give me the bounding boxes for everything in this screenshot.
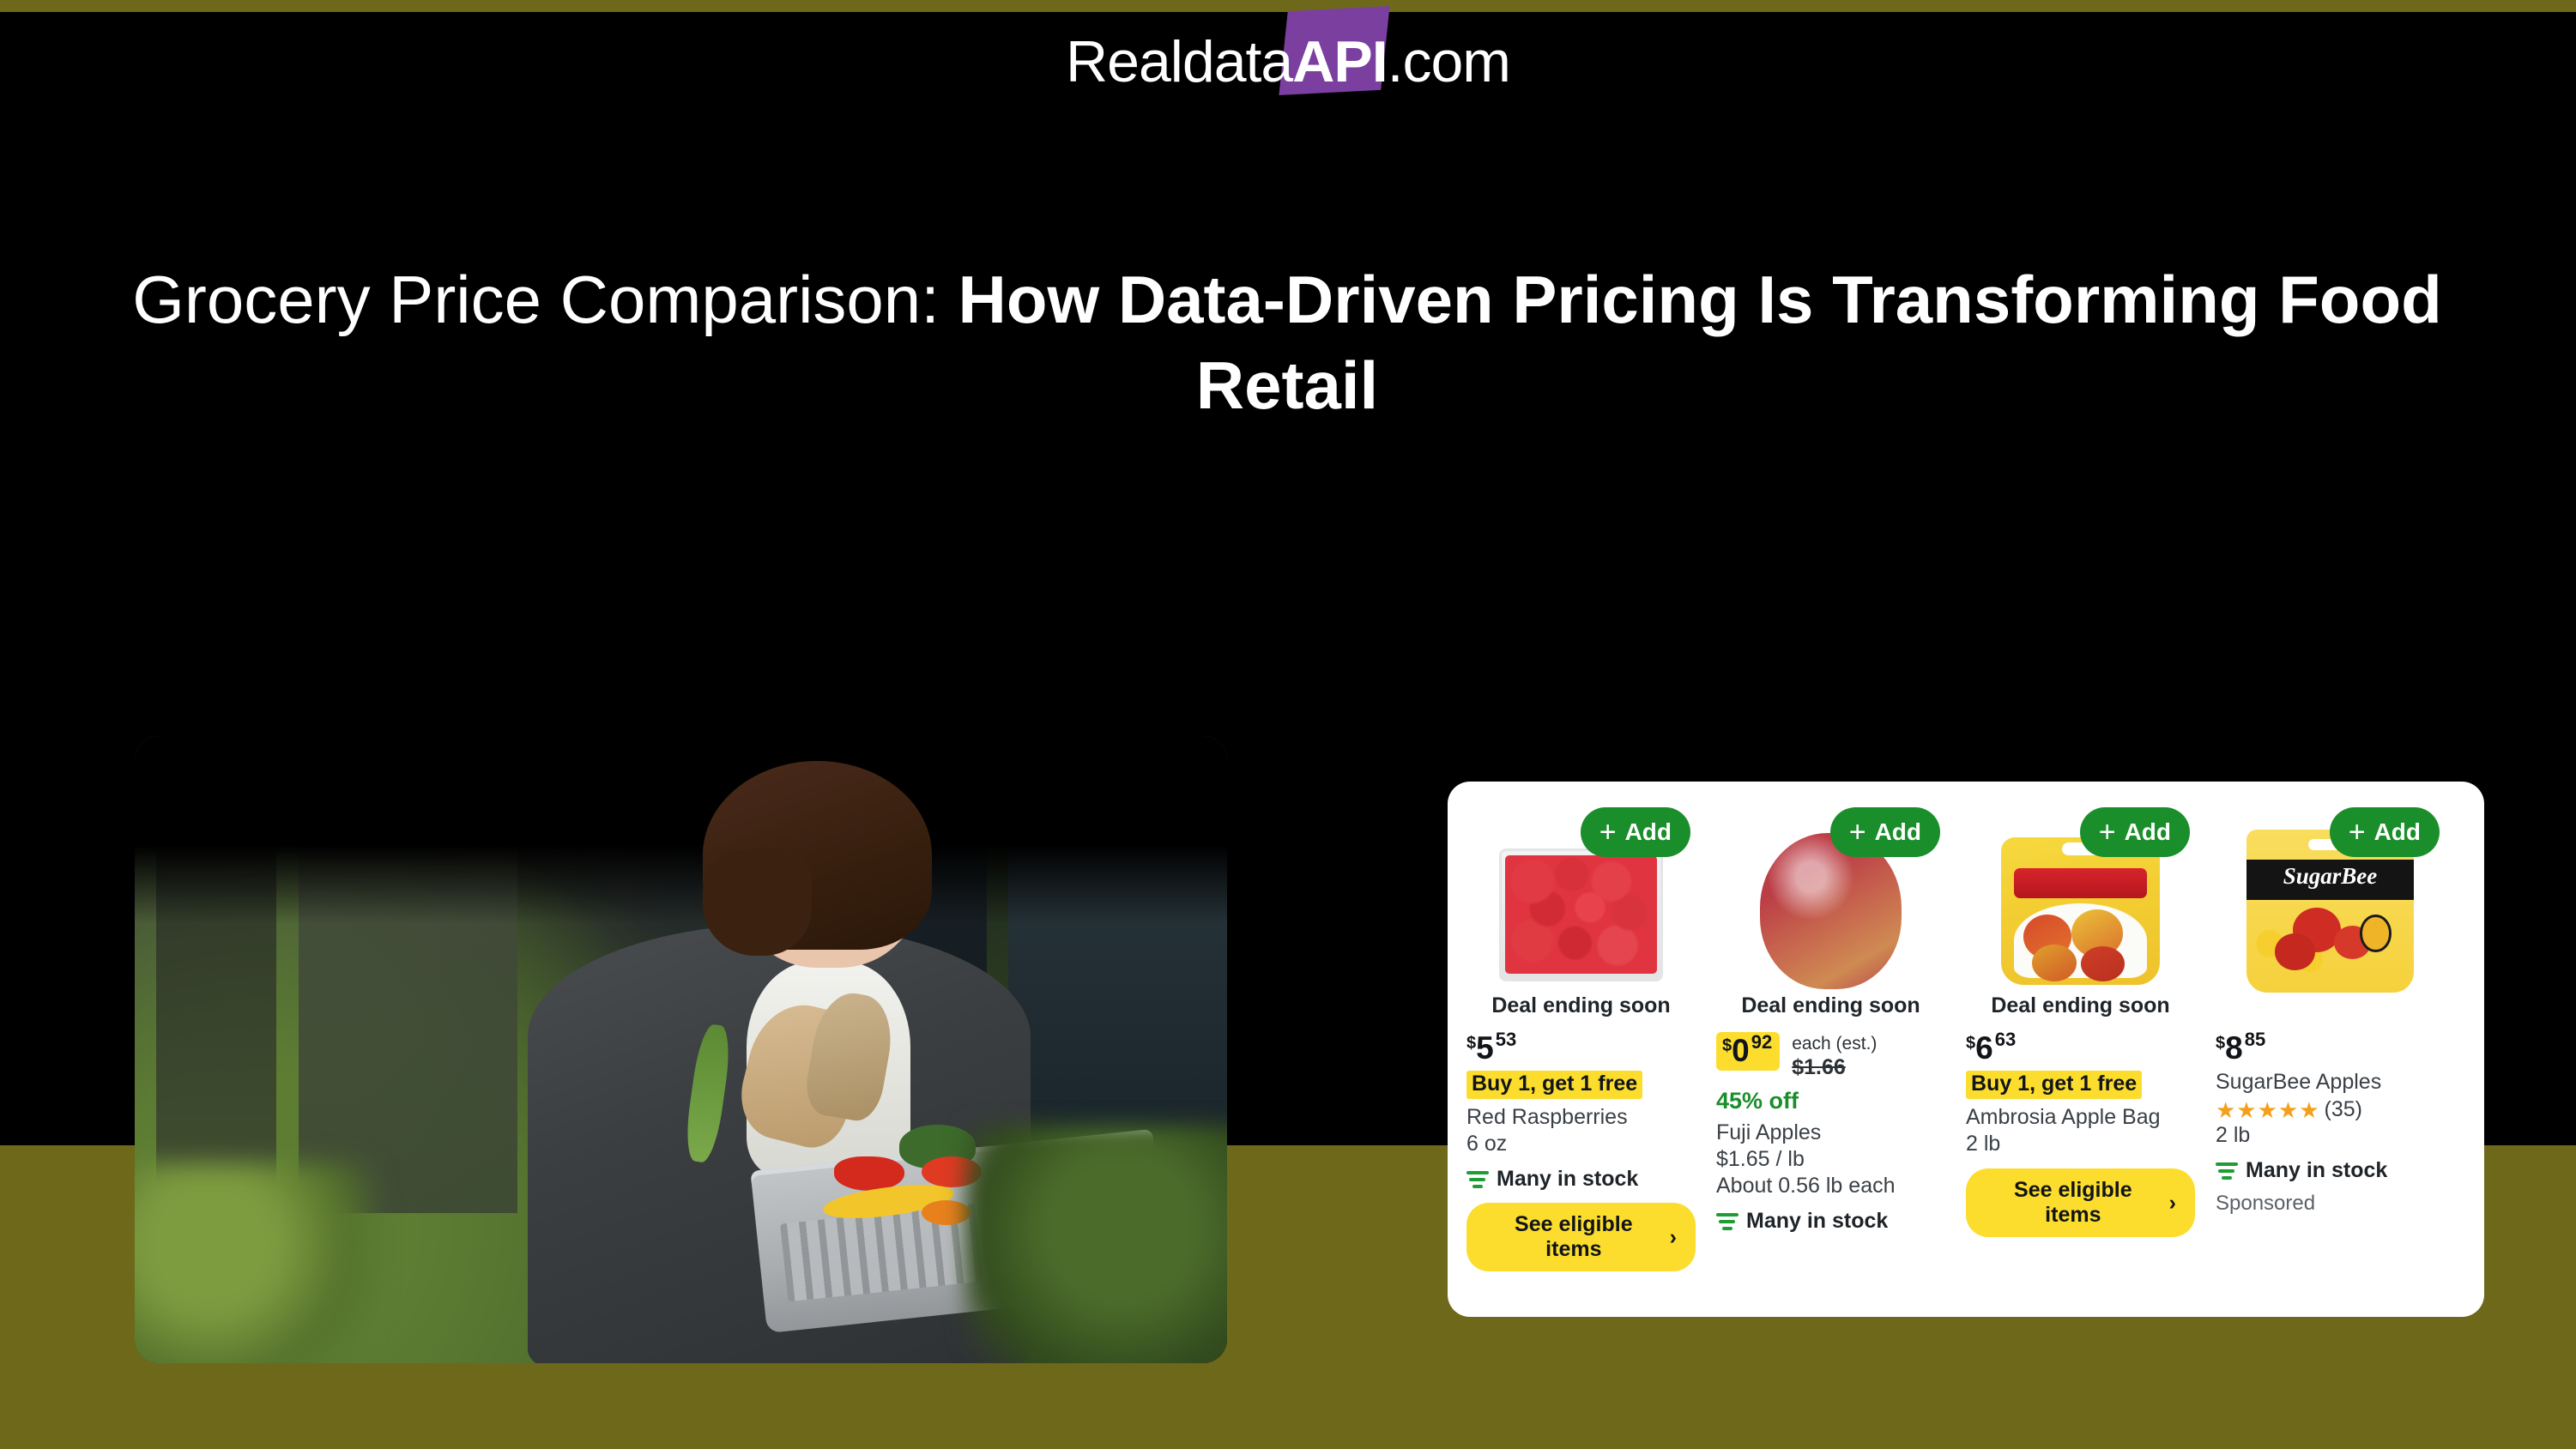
- product-size: 2 lb: [1966, 1131, 2195, 1157]
- hero-top-shadow: [135, 736, 1227, 924]
- price-dollars: 6: [1975, 1030, 1993, 1066]
- see-eligible-items-label: See eligible items: [1485, 1212, 1662, 1262]
- product-card[interactable]: + Add Deal ending soon $092 each (est.) …: [1706, 795, 1956, 1317]
- sponsored-label: Sponsored: [2216, 1192, 2445, 1216]
- hero-foreground-bush-right: [964, 1125, 1227, 1363]
- price-currency: $: [1722, 1036, 1732, 1055]
- price-dollars: 0: [1732, 1033, 1750, 1068]
- hero-foreground-bush-left: [135, 1162, 375, 1363]
- add-to-cart-button[interactable]: + Add: [1830, 807, 1940, 857]
- deal-ending-badge: Deal ending soon: [1736, 992, 1925, 1020]
- product-image-area: + Add Deal ending soon: [1716, 795, 1945, 1027]
- rating-count: (35): [2325, 1097, 2362, 1122]
- price-row: $092 each (est.) $1.66: [1716, 1032, 1945, 1080]
- bee-mascot-icon: [2360, 915, 2392, 951]
- bag-brand-label: [2014, 868, 2148, 898]
- stock-status-label: Many in stock: [2246, 1158, 2387, 1183]
- plus-icon: +: [2349, 818, 2366, 847]
- page-title-bold: How Data-Driven Pricing Is Transforming …: [958, 262, 2442, 423]
- stock-level-icon: [2216, 1162, 2238, 1180]
- product-price: $553: [1466, 1032, 1516, 1064]
- raspberries: [1505, 855, 1657, 974]
- shopper-hair-side: [703, 849, 812, 956]
- stock-level-icon: [1716, 1212, 1738, 1231]
- bag-apple-3: [2032, 945, 2077, 981]
- bag-apple-2: [2275, 933, 2316, 970]
- price-cents: 85: [2245, 1029, 2265, 1050]
- product-image-area: + Add Deal ending soon: [1966, 795, 2195, 1027]
- add-to-cart-button[interactable]: + Add: [2330, 807, 2440, 857]
- price-row: $885: [2216, 1032, 2445, 1064]
- see-eligible-items-label: See eligible items: [1985, 1178, 2162, 1228]
- price-currency: $: [2216, 1034, 2225, 1053]
- chevron-right-icon: ›: [1670, 1225, 1677, 1250]
- product-rating: ★★★★★ (35): [2216, 1097, 2445, 1122]
- promo-tag: Buy 1, get 1 free: [1466, 1071, 1642, 1099]
- price-cents: 63: [1995, 1029, 2016, 1050]
- price-dollars: 8: [2225, 1030, 2243, 1066]
- logo-text-dotcom: .com: [1388, 29, 1510, 94]
- product-price: $663: [1966, 1032, 2016, 1064]
- product-name: Ambrosia Apple Bag: [1966, 1104, 2195, 1131]
- add-button-label: Add: [1625, 818, 1672, 846]
- product-card[interactable]: SugarBee + Add $885 SugarBee Apples ★★★★…: [2205, 795, 2455, 1317]
- add-button-label: Add: [2125, 818, 2171, 846]
- add-to-cart-button[interactable]: + Add: [2080, 807, 2190, 857]
- product-image-area: SugarBee + Add: [2216, 795, 2445, 1027]
- add-button-label: Add: [2374, 818, 2421, 846]
- price-unit-note: each (est.): [1792, 1034, 1877, 1054]
- stock-status: Many in stock: [2216, 1158, 2445, 1183]
- deal-ending-badge: Deal ending soon: [1486, 992, 1675, 1020]
- price-aside: each (est.) $1.66: [1792, 1032, 1877, 1080]
- price-row: $553: [1466, 1032, 1696, 1064]
- site-logo[interactable]: RealdataAPI.com: [0, 33, 2576, 91]
- price-currency: $: [1466, 1034, 1476, 1053]
- plus-icon: +: [2099, 818, 2116, 847]
- product-price: $885: [2216, 1032, 2265, 1064]
- star-rating-icon: ★★★★★: [2216, 1099, 2320, 1121]
- price-currency: $: [1966, 1034, 1975, 1053]
- bag-apple-4: [2081, 946, 2126, 981]
- logo-api-badge: API: [1292, 33, 1387, 91]
- stock-status: Many in stock: [1466, 1167, 1696, 1192]
- product-image-area: + Add Deal ending soon: [1466, 795, 1696, 1027]
- add-to-cart-button[interactable]: + Add: [1581, 807, 1690, 857]
- product-card[interactable]: + Add Deal ending soon $663 Buy 1, get 1…: [1956, 795, 2205, 1317]
- grocery-product-carousel: + Add Deal ending soon $553 Buy 1, get 1…: [1448, 782, 2484, 1317]
- plus-icon: +: [1599, 818, 1617, 847]
- product-size: 6 oz: [1466, 1131, 1696, 1157]
- deal-ending-badge: Deal ending soon: [1986, 992, 2174, 1020]
- add-button-label: Add: [1875, 818, 1921, 846]
- product-size: 2 lb: [2216, 1122, 2445, 1149]
- price-dollars: 5: [1476, 1030, 1494, 1066]
- promo-tag: Buy 1, get 1 free: [1966, 1071, 2142, 1099]
- basket-orange: [922, 1200, 971, 1225]
- chevron-right-icon: ›: [2169, 1191, 2176, 1216]
- plus-icon: +: [1849, 818, 1866, 847]
- product-name: Fuji Apples: [1716, 1120, 1945, 1146]
- logo-text-realdata: Realdata: [1066, 29, 1292, 94]
- stock-status-label: Many in stock: [1497, 1167, 1638, 1192]
- price-cents: 92: [1751, 1031, 1772, 1053]
- original-price-struck: $1.66: [1792, 1055, 1877, 1081]
- product-approx-weight: About 0.56 lb each: [1716, 1173, 1945, 1199]
- page-title-light: Grocery Price Comparison:: [132, 262, 958, 337]
- stock-level-icon: [1466, 1170, 1489, 1189]
- stock-status: Many in stock: [1716, 1209, 1945, 1234]
- product-name: SugarBee Apples: [2216, 1069, 2445, 1096]
- see-eligible-items-button[interactable]: See eligible items ›: [1966, 1168, 2195, 1237]
- see-eligible-items-button[interactable]: See eligible items ›: [1466, 1203, 1696, 1271]
- sugarbee-brand-text: SugarBee: [2246, 865, 2413, 895]
- stock-status-label: Many in stock: [1746, 1209, 1888, 1234]
- logo-text-api: API: [1292, 29, 1387, 94]
- price-cents: 53: [1496, 1029, 1516, 1050]
- price-row: $663: [1966, 1032, 2195, 1064]
- product-name: Red Raspberries: [1466, 1104, 1696, 1131]
- page-title: Grocery Price Comparison: How Data-Drive…: [129, 257, 2446, 429]
- hero-photo-shopper: [135, 736, 1227, 1363]
- product-price: $092: [1716, 1032, 1780, 1071]
- top-olive-band: [0, 0, 2576, 12]
- percent-off-label: 45% off: [1716, 1088, 1945, 1114]
- product-unit-price: $1.65 / lb: [1716, 1146, 1945, 1173]
- product-card[interactable]: + Add Deal ending soon $553 Buy 1, get 1…: [1456, 795, 1706, 1317]
